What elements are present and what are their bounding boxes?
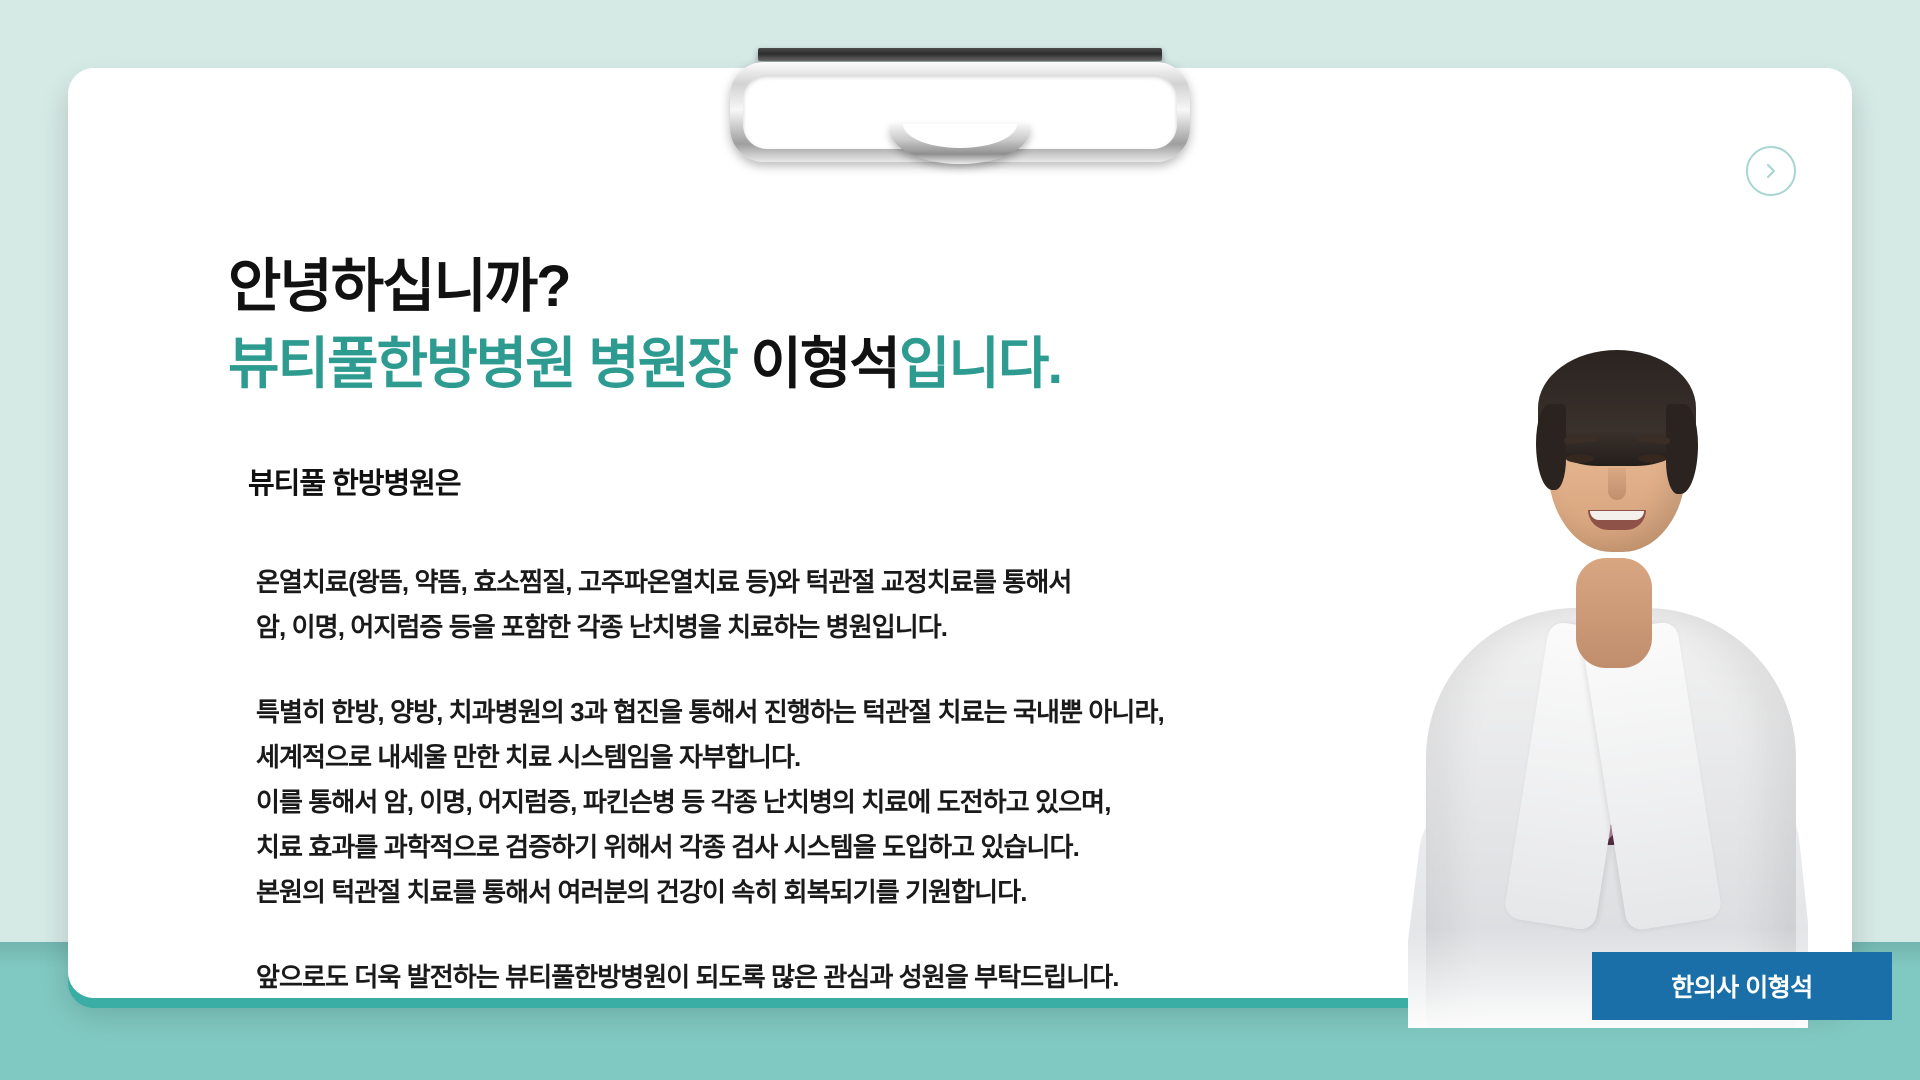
nose	[1608, 468, 1626, 500]
copy-line: 암, 이명, 어지럼증 등을 포함한 각종 난치병을 치료하는 병원입니다.	[256, 605, 1376, 650]
eye-right	[1638, 454, 1666, 463]
paragraph: 앞으로도 더욱 발전하는 뷰티풀한방병원이 되도록 많은 관심과 성원을 부탁드…	[256, 955, 1376, 1000]
binder-clip-bar	[758, 48, 1162, 61]
heading-suffix: 입니다.	[899, 332, 1061, 395]
copy-line: 온열치료(왕뜸, 약뜸, 효소찜질, 고주파온열치료 등)와 턱관절 교정치료를…	[256, 560, 1376, 605]
hair-side-right	[1666, 404, 1698, 494]
content-card: 안녕하십니까? 뷰티풀한방병원 병원장 이형석입니다. 뷰티풀 한방병원은 온열…	[68, 68, 1852, 998]
copy-line: 본원의 턱관절 치료를 통해서 여러분의 건강이 속히 회복되기를 기원합니다.	[256, 870, 1376, 915]
paragraph: 특별히 한방, 양방, 치과병원의 3과 협진을 통해서 진행하는 턱관절 치료…	[256, 690, 1376, 915]
hair-side-left	[1536, 404, 1566, 490]
page-title: 안녕하십니까? 뷰티풀한방병원 병원장 이형석입니다.	[228, 253, 1408, 398]
heading-hospital-name: 뷰티풀한방병원 병원장	[228, 332, 750, 395]
copy-line: 앞으로도 더욱 발전하는 뷰티풀한방병원이 되도록 많은 관심과 성원을 부탁드…	[256, 955, 1376, 1000]
doctor-name-banner-label: 한의사 이형석	[1671, 968, 1812, 1004]
copy-line: 치료 효과를 과학적으로 검증하기 위해서 각종 검사 시스템을 도입하고 있습…	[256, 825, 1376, 870]
copy-line: 특별히 한방, 양방, 치과병원의 3과 협진을 통해서 진행하는 턱관절 치료…	[256, 690, 1376, 735]
chevron-right-icon	[1761, 161, 1781, 181]
heading-line-2: 뷰티풀한방병원 병원장 이형석입니다.	[228, 331, 1408, 397]
copy-line: 이를 통해서 암, 이명, 어지럼증, 파킨슨병 등 각종 난치병의 치료에 도…	[256, 780, 1376, 825]
eye-left	[1566, 454, 1594, 463]
body-copy: 온열치료(왕뜸, 약뜸, 효소찜질, 고주파온열치료 등)와 턱관절 교정치료를…	[256, 560, 1376, 1000]
paragraph: 온열치료(왕뜸, 약뜸, 효소찜질, 고주파온열치료 등)와 턱관절 교정치료를…	[256, 560, 1376, 650]
teeth	[1590, 511, 1644, 520]
binder-clip-bump-inner	[903, 124, 1017, 148]
heading-doctor-name: 이형석	[750, 332, 899, 395]
doctor-name-banner: 한의사 이형석	[1592, 952, 1892, 1020]
binder-clip-icon	[730, 48, 1190, 168]
body-subheading: 뷰티풀 한방병원은	[248, 460, 461, 502]
copy-line: 세계적으로 내세울 만한 치료 시스템임을 자부합니다.	[256, 735, 1376, 780]
doctor-portrait-image	[1408, 308, 1808, 1028]
next-arrow-button[interactable]	[1746, 146, 1796, 196]
heading-line-1: 안녕하십니까?	[228, 253, 1408, 321]
neck	[1576, 558, 1652, 668]
